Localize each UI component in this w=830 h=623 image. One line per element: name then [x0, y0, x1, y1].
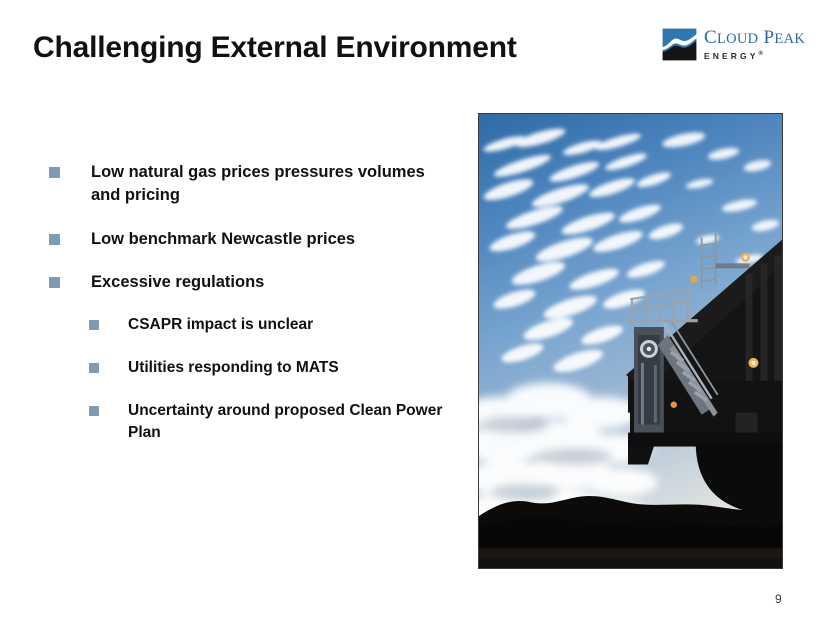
logo-brand-p: P [764, 27, 775, 48]
bullet-text: Low natural gas prices pressures volumes… [91, 161, 449, 207]
bullet-square-icon [89, 320, 99, 330]
logo-brand-c: C [704, 27, 717, 48]
presentation-slide: Challenging External Environment CLOUD P… [0, 0, 830, 623]
cloud-peak-energy-logo: CLOUD PEAK ENERGY® [662, 27, 802, 67]
bullet-item-level2: Uncertainty around proposed Clean Power … [89, 400, 469, 444]
bullet-square-icon [89, 406, 99, 416]
logo-brand-subtitle: ENERGY® [704, 51, 802, 61]
logo-brand-loud: LOUD [717, 31, 758, 47]
bullet-item-level2: Utilities responding to MATS [89, 357, 469, 379]
logo-brand-name: CLOUD PEAK [704, 27, 802, 50]
bullet-square-icon [49, 277, 60, 288]
bullet-text: Low benchmark Newcastle prices [91, 228, 355, 251]
photo-artwork [479, 114, 782, 568]
logo-brand-eak: EAK [774, 31, 805, 47]
slide-title: Challenging External Environment [33, 31, 517, 64]
bullet-text: Uncertainty around proposed Clean Power … [128, 400, 469, 444]
bullet-item-level1: Low natural gas prices pressures volumes… [49, 161, 449, 207]
logo-energy-text: ENERGY [704, 51, 759, 61]
registered-trademark-icon: ® [759, 51, 763, 57]
logo-wordmark: CLOUD PEAK ENERGY® [704, 27, 802, 61]
bullet-item-level2: CSAPR impact is unclear [89, 314, 469, 336]
page-number: 9 [775, 592, 782, 606]
bullet-square-icon [49, 167, 60, 178]
bullet-text: Excessive regulations [91, 271, 264, 294]
cloud-peak-mountain-mark-icon [662, 28, 697, 61]
bullet-text: CSAPR impact is unclear [128, 314, 313, 336]
bullet-text: Utilities responding to MATS [128, 357, 339, 379]
mine-haul-truck-photo [478, 113, 783, 569]
bullet-square-icon [49, 234, 60, 245]
bullet-item-level1: Excessive regulations [49, 271, 449, 294]
bullet-item-level1: Low benchmark Newcastle prices [49, 228, 449, 251]
bullet-square-icon [89, 363, 99, 373]
